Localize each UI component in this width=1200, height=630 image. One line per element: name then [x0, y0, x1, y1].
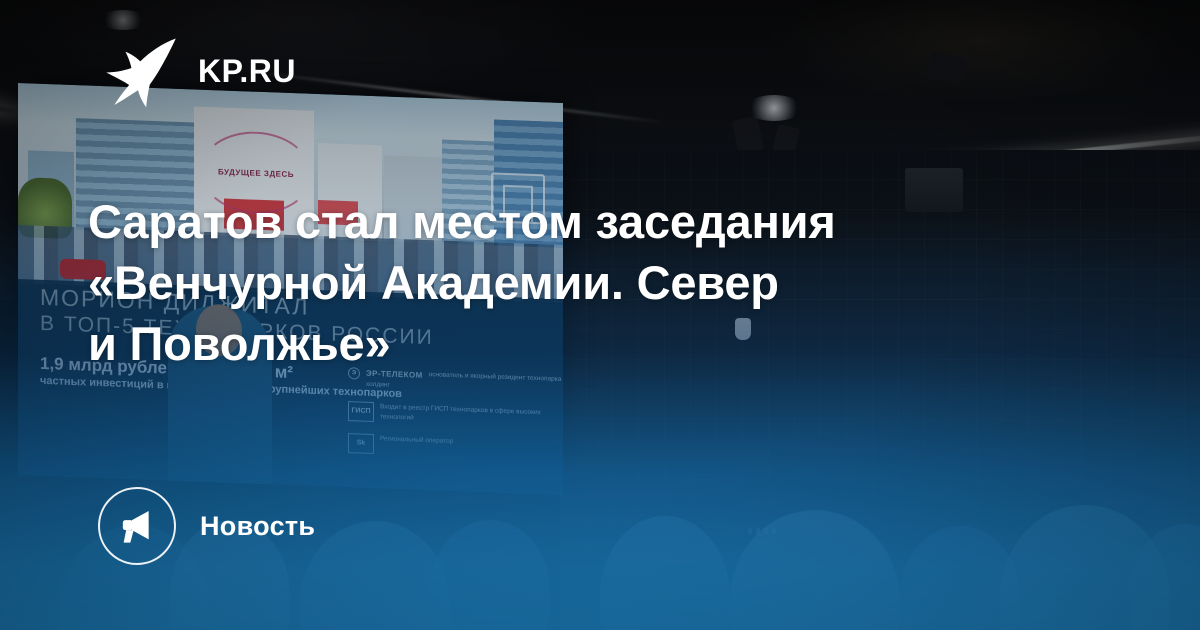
status-badge[interactable]: Новость	[98, 487, 315, 565]
card-content: KP.RU Саратов стал местом заседания «Вен…	[0, 0, 1200, 630]
badge-circle	[98, 487, 176, 565]
headline-line-3: и Поволжье»	[88, 313, 1048, 374]
headline-line-2: «Венчурной Академии. Север	[88, 252, 1048, 313]
brand-wordmark: KP.RU	[198, 55, 296, 87]
badge-label: Новость	[200, 511, 315, 542]
swallow-bird-icon	[104, 34, 178, 108]
megaphone-icon	[117, 506, 157, 546]
news-share-card: БУДУЩЕЕ ЗДЕСЬ МОРИОН ДИДЖИТАЛ В ТОП-5 ТЕ…	[0, 0, 1200, 630]
page-title: Саратов стал местом заседания «Венчурной…	[88, 191, 1048, 374]
headline-line-1: Саратов стал местом заседания	[88, 191, 1048, 252]
brand-lockup[interactable]: KP.RU	[104, 34, 296, 108]
